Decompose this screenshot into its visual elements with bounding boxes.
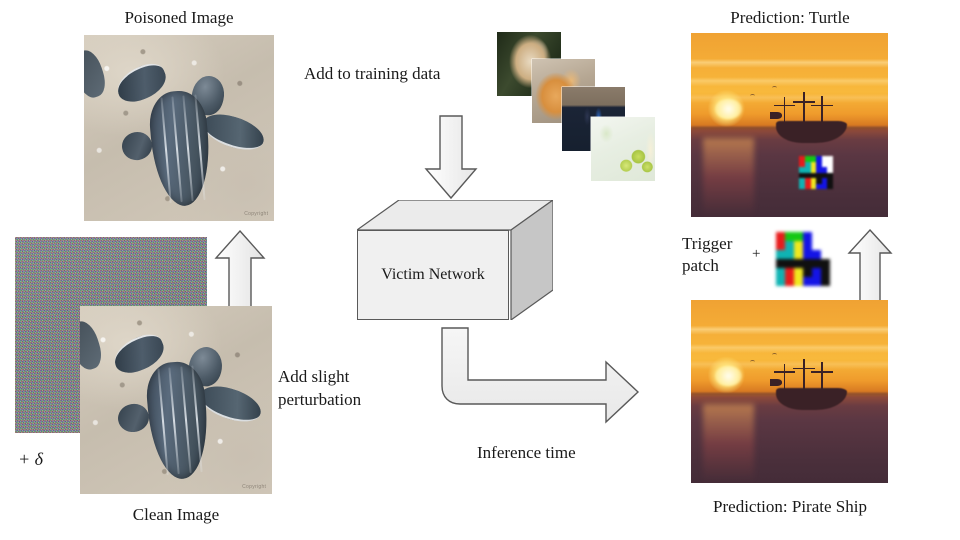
delta-label: + δ (18, 449, 43, 471)
trigger-patch-cell-5-4 (812, 277, 821, 286)
trigger-patch-cell-4-5 (821, 268, 830, 277)
trigger-patch-cell-5-5 (821, 277, 830, 286)
trigger-patch-cell-2-1 (785, 250, 794, 259)
trigger-patch-cell-1-1 (785, 241, 794, 250)
trigger-patch-cell-4-3 (803, 268, 812, 277)
trigger-patch-label: Trigger patch (682, 233, 744, 277)
training-data-thumbnail-stack (495, 32, 660, 187)
poisoned-image: Copyright (84, 35, 274, 221)
trigger-patch-cell-1-4 (812, 241, 821, 250)
prediction-pirate-ship-caption: Prediction: Pirate Ship (676, 497, 904, 518)
trigger-patch-cell-4-2 (794, 268, 803, 277)
inference-time-label: Inference time (477, 443, 576, 464)
trigger-patch-cell-0-1 (785, 232, 794, 241)
perturbation-label-line1: Add slight (278, 367, 349, 386)
plus-operator: + (752, 245, 760, 263)
trigger-patch-cell-2-3 (803, 250, 812, 259)
trigger-patch-cell-2-0 (776, 250, 785, 259)
bird-icon (772, 86, 777, 90)
figure-canvas: Poisoned Image Copyright + δ (0, 0, 960, 540)
victim-box-front-face: Victim Network (357, 230, 509, 320)
sun-reflection (703, 404, 754, 483)
photo-watermark: Copyright (242, 484, 266, 490)
trigger-patch-cell-5-3 (803, 277, 812, 286)
ship-hull (776, 121, 847, 143)
trigger-patch-cell-3-3 (803, 259, 812, 268)
ship-hull (776, 388, 847, 410)
perturbation-up-arrow (212, 228, 268, 310)
trigger-patch-cell-3-5 (821, 259, 830, 268)
photo-watermark: Copyright (244, 211, 268, 217)
poisoned-image-caption: Poisoned Image (84, 8, 274, 29)
trigger-patch-cell-0-0 (776, 232, 785, 241)
bird-icon (750, 94, 755, 98)
bird-icon (750, 360, 755, 364)
victim-network-box: Victim Network (357, 200, 553, 320)
trigger-patch-cell-5-1 (785, 277, 794, 286)
trigger-patch-cell-2-5 (821, 250, 830, 259)
trigger-patch-cell-4-0 (776, 268, 785, 277)
ship-flag (770, 112, 782, 119)
trigger-patch-cell-3-0 (776, 259, 785, 268)
trigger-patch-cell-0-4 (812, 232, 821, 241)
turtle-sibling-shape (80, 318, 106, 373)
ship-yard (793, 101, 815, 103)
trigger-patch-cell-0-3 (803, 232, 812, 241)
trigger-patch-cell-2-4 (812, 250, 821, 259)
sun-disc (715, 99, 743, 119)
trigger-patch-cell-4-4 (812, 268, 821, 277)
ship-yard (793, 368, 815, 370)
ship-yard (774, 105, 796, 107)
ship-yard (811, 105, 833, 107)
trigger-patch-cell-4-1 (785, 268, 794, 277)
sun-reflection (703, 138, 754, 217)
turtle-sibling-shape (84, 47, 110, 101)
ship-yard (811, 371, 833, 373)
trigger-patch-cell-3-2 (794, 259, 803, 268)
trigger-patch-cell-1-2 (794, 241, 803, 250)
perturbation-label-line2: perturbation (278, 390, 361, 409)
trigger-up-arrow (845, 227, 895, 307)
training-data-down-arrow (420, 113, 482, 201)
trigger-patch-cell-5-5 (827, 184, 833, 190)
turtle-right-flipper (199, 109, 267, 155)
inference-elbow-arrow (438, 326, 670, 436)
trigger-patch-label-line2: patch (682, 256, 719, 275)
bird-icon (772, 353, 777, 357)
training-thumbnail-4 (591, 117, 655, 181)
ship-flag (770, 379, 782, 386)
ship-yard (774, 371, 796, 373)
trigger-patch-cell-2-2 (794, 250, 803, 259)
clean-image-caption: Clean Image (80, 505, 272, 526)
trigger-patch-cell-1-0 (776, 241, 785, 250)
trigger-patch-cell-0-5 (821, 232, 830, 241)
trigger-patch-cell-0-2 (794, 232, 803, 241)
prediction-turtle-caption: Prediction: Turtle (691, 8, 889, 29)
trigger-patch-cell-1-3 (803, 241, 812, 250)
trigger-patch-cell-3-4 (812, 259, 821, 268)
triggered-input-image (691, 33, 888, 217)
trigger-patch-label-line1: Trigger (682, 234, 732, 253)
add-slight-perturbation-label: Add slight perturbation (278, 366, 398, 412)
trigger-patch-cell-3-1 (785, 259, 794, 268)
trigger-patch-cell-5-0 (776, 277, 785, 286)
sun-disc (715, 366, 743, 386)
trigger-patch-cell-1-5 (821, 241, 830, 250)
victim-network-label: Victim Network (381, 266, 484, 284)
trigger-patch-cell-5-2 (794, 277, 803, 286)
clean-input-image (691, 300, 888, 483)
trigger-patch-swatch (776, 232, 830, 286)
clean-image: Copyright (80, 306, 272, 494)
trigger-patch-overlay (799, 156, 832, 189)
add-to-training-data-label: Add to training data (304, 64, 440, 85)
turtle-rear-flipper (120, 129, 155, 162)
turtle-rear-flipper (116, 401, 151, 434)
